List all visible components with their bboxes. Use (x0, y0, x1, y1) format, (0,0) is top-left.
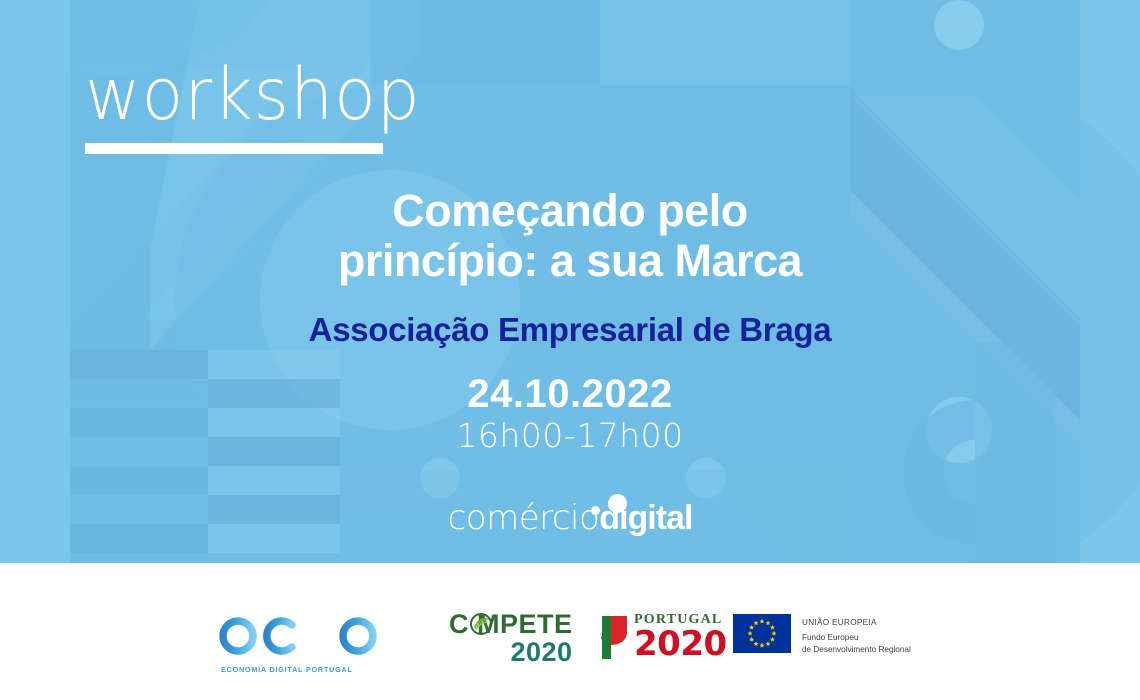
logo-large-dot-icon (608, 494, 627, 513)
eu-fund-line-1: Fundo Europeu (802, 632, 911, 644)
eu-flag-icon (733, 614, 791, 653)
european-union-logo: UNIÃO EUROPEIA Fundo Europeu de Desenvol… (733, 614, 911, 656)
eu-title: UNIÃO EUROPEIA (802, 617, 911, 629)
portugal-year: 2020 (634, 627, 727, 661)
comercio-digital-logo: comérciodigital (0, 498, 1140, 538)
portugal-2020-logo: PORTUGAL 2020 (599, 612, 727, 661)
event-time: 16h00-17h00 (0, 416, 1140, 456)
compete-swirl-icon (470, 613, 492, 635)
acepi-tagline: ECONOMIA DIGITAL PORTUGAL (221, 665, 383, 674)
page-title: Começando pelo princípio: a sua Marca (0, 186, 1140, 286)
comercio-digital-logo-light: comércio (448, 498, 600, 538)
event-host-subtitle: Associação Empresarial de Braga (0, 310, 1140, 350)
page-title-line-2: princípio: a sua Marca (0, 236, 1140, 286)
logo-small-dot-icon (591, 506, 600, 515)
portugal-flag-mark-icon (599, 614, 629, 661)
event-date: 24.10.2022 (0, 370, 1140, 418)
funding-logos-row: ECONOMIA DIGITAL PORTUGAL C MPETE 2020 (0, 0, 1140, 137)
workshop-promo-poster: workshop Começando pelo princípio: a sua… (0, 0, 1140, 700)
compete-2020-logo: C MPETE 2020 (449, 610, 573, 666)
compete-year: 2020 (449, 639, 573, 666)
compete-wordmark: C MPETE (449, 610, 573, 638)
acepi-wordmark-icon (218, 612, 383, 658)
eu-fund-line-2: de Desenvolvimento Regional (802, 644, 911, 656)
kicker-underline-rule (85, 143, 383, 154)
acepi-logo: ECONOMIA DIGITAL PORTUGAL (218, 612, 383, 674)
page-title-line-1: Começando pelo (0, 186, 1140, 236)
